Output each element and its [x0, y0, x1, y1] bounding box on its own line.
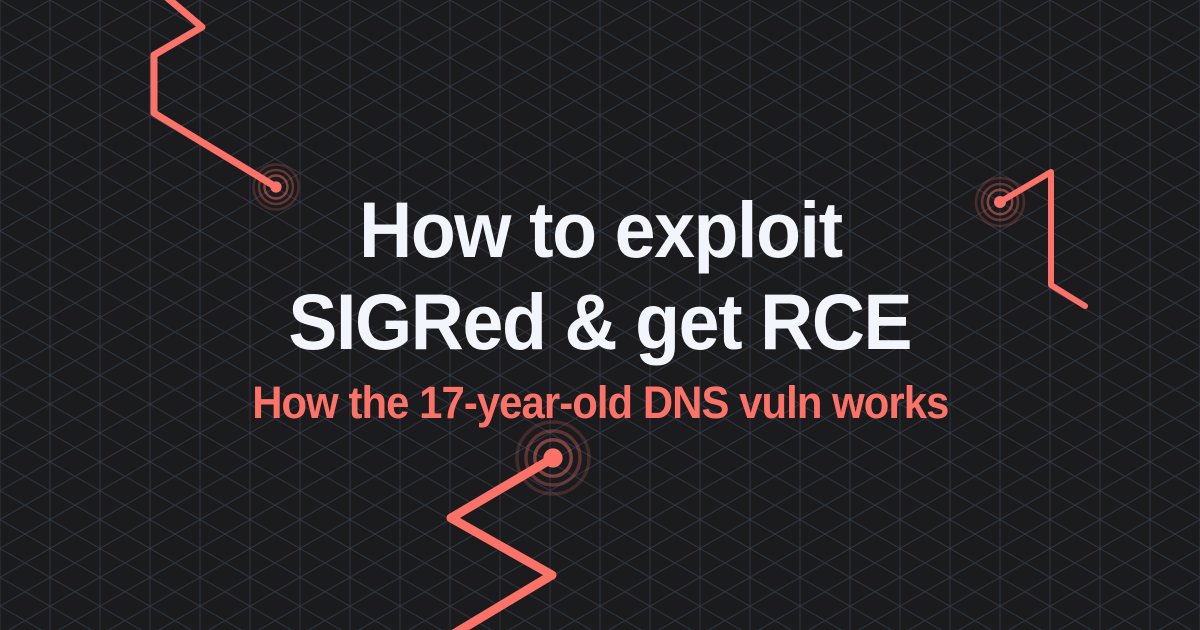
card-content: How to exploit SIGRed & get RCE How the … — [0, 0, 1200, 630]
page-subtitle: How the 17-year-old DNS vuln works — [252, 377, 948, 429]
title-line-1: How to exploit — [359, 184, 841, 276]
title-line-2: SIGRed & get RCE — [289, 276, 912, 368]
page-title: How to exploit SIGRed & get RCE — [265, 184, 935, 368]
og-card: How to exploit SIGRed & get RCE How the … — [0, 0, 1200, 630]
